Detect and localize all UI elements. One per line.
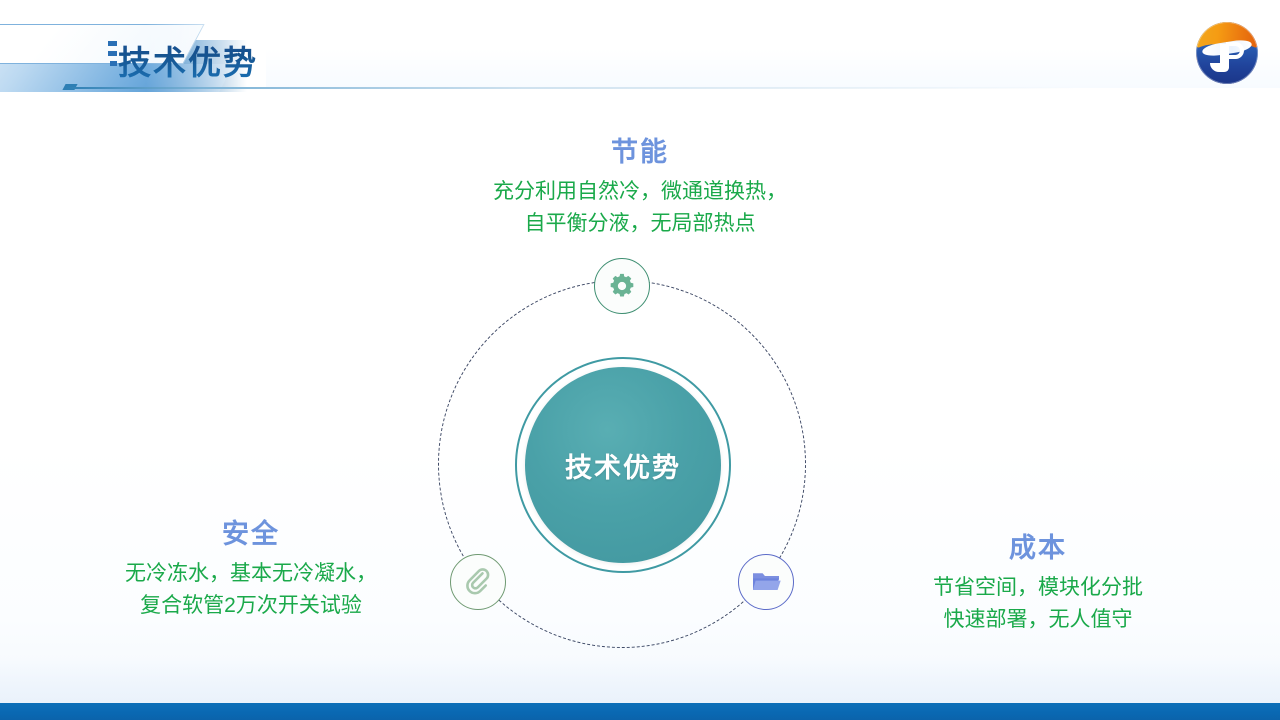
callout-title: 成本 [828, 532, 1248, 566]
callout-body: 节省空间，模块化分批 快速部署，无人值守 [828, 572, 1248, 636]
slide-header: 技术优势 [0, 0, 1280, 92]
hub-and-spoke-diagram: 技术优势 [428, 258, 852, 668]
footer-glow [0, 660, 1280, 703]
company-logo[interactable] [1196, 22, 1258, 84]
callout-energy-saving: 节能 充分利用自然冷，微通道换热， 自平衡分液，无局部热点 [330, 136, 950, 240]
page-title: 技术优势 [118, 36, 258, 84]
footer-bar [0, 703, 1280, 720]
callout-body: 无冷冻水，基本无冷凝水， 复合软管2万次开关试验 [36, 558, 466, 622]
slide-canvas: 技术优势 节能 充分利用自然冷，微通道换热， 自平衡分液，无局部热点 安全 无冷… [0, 0, 1280, 720]
chevron-mark-icon [110, 61, 117, 66]
folder-icon [751, 569, 781, 595]
diagram-node-safety[interactable] [450, 554, 506, 610]
callout-safety: 安全 无冷冻水，基本无冷凝水， 复合软管2万次开关试验 [36, 518, 466, 622]
chevron-mark-icon [108, 51, 117, 56]
diagram-node-cost[interactable] [738, 554, 794, 610]
chevron-mark-icon [108, 41, 117, 46]
gear-icon [608, 272, 636, 300]
callout-cost: 成本 节省空间，模块化分批 快速部署，无人值守 [828, 532, 1248, 636]
paperclip-icon [463, 567, 493, 597]
callout-body: 充分利用自然冷，微通道换热， 自平衡分液，无局部热点 [330, 176, 950, 240]
callout-title: 节能 [330, 136, 950, 170]
center-hub[interactable]: 技术优势 [525, 367, 721, 563]
header-divider [66, 87, 1216, 89]
callout-title: 安全 [36, 518, 466, 552]
center-hub-label: 技术优势 [565, 446, 681, 485]
diagram-node-energy-saving[interactable] [594, 258, 650, 314]
